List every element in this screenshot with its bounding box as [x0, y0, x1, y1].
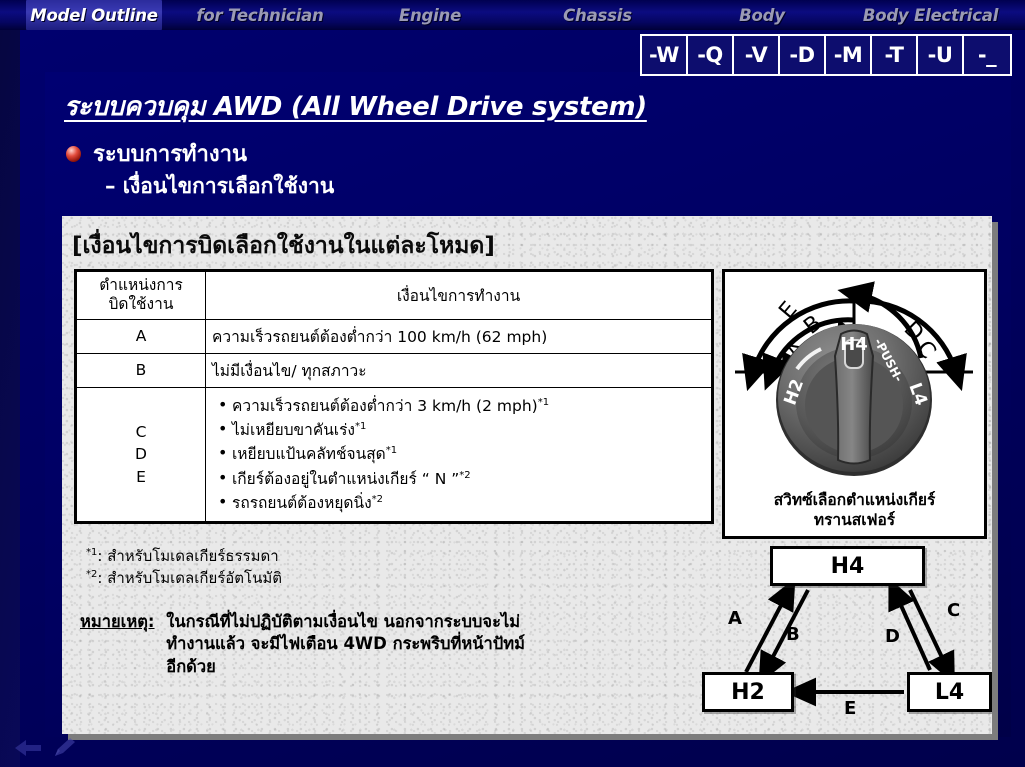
bullet-level1-label: ระบบการทำงาน [93, 136, 247, 171]
table-row-grouped: C D E ความเร็วรถยนต์ต้องต่ำกว่า 3 km/h (… [76, 387, 713, 522]
top-navigation-bar: Model Outline for Technician Engine Chas… [0, 0, 1025, 30]
footnote-mark: *1 [355, 421, 366, 432]
key-button-v[interactable]: -V [734, 36, 780, 74]
row-position-cde: C D E [76, 387, 206, 522]
row-condition-a: ความเร็วรถยนต์ต้องต่ำกว่า 100 km/h (62 m… [206, 319, 713, 353]
bullet-text: รถรถยนต์ต้องหยุดนิ่ง [232, 494, 372, 512]
footnote-mark: *1 [386, 445, 397, 456]
nav-tab-label: Body Electrical [863, 6, 998, 25]
edge-label-a: A [728, 608, 742, 629]
list-item: เกียร์ต้องอยู่ในตำแหน่งเกียร์ “ N ”*2 [216, 469, 705, 489]
dial-caption-line2: ทรานสเฟอร์ [814, 511, 895, 529]
row-position-a: A [76, 319, 206, 353]
nav-tab-label: Chassis [563, 6, 632, 25]
corner-icon-group [14, 737, 78, 759]
list-item: รถรถยนต์ต้องหยุดนิ่ง*2 [216, 493, 705, 513]
nav-tab-engine[interactable]: Engine [375, 0, 485, 30]
bullet-text: ไม่เหยียบขาคันเร่ง [232, 421, 355, 439]
row-condition-b: ไม่มีเงื่อนไข/ ทุกสภาวะ [206, 353, 713, 387]
edge-label-b: B [786, 624, 800, 645]
key-button-underscore[interactable]: -_ [964, 36, 1010, 74]
nav-tab-chassis[interactable]: Chassis [545, 0, 650, 30]
footnote-mark: *2 [459, 470, 470, 481]
key-button-w[interactable]: -W [642, 36, 688, 74]
row-condition-cde: ความเร็วรถยนต์ต้องต่ำกว่า 3 km/h (2 mph)… [206, 387, 713, 522]
footnotes-block: *1: สำหรับโมเดลเกียร์ธรรมดา *2: สำหรับโม… [86, 546, 282, 590]
note-line-1: ในกรณีที่ไม่ปฏิบัติตามเงื่อนไข นอกจากระบ… [166, 612, 520, 631]
header-position-line2: บิดใช้งาน [109, 295, 174, 313]
position-d: D [135, 445, 147, 463]
state-node-l4: L4 [907, 672, 992, 712]
table-header-row: ตำแหน่งการ บิดใช้งาน เงื่อนไขการทำงาน [76, 271, 713, 320]
conditions-table: ตำแหน่งการ บิดใช้งาน เงื่อนไขการทำงาน A … [74, 269, 714, 524]
bullet-text: ความเร็วรถยนต์ต้องต่ำกว่า 3 km/h (2 mph) [232, 397, 538, 415]
page-title: ระบบควบคุม AWD (All Wheel Drive system) [64, 86, 647, 127]
footnote-1-mark: *1 [86, 547, 97, 558]
row-position-b: B [76, 353, 206, 387]
key-button-q[interactable]: -Q [688, 36, 734, 74]
state-node-h2: H2 [702, 672, 794, 712]
nav-tab-body[interactable]: Body [722, 0, 802, 30]
transfer-switch-figure: E B A D C H4 H2 L4 -PUSH- [722, 269, 987, 539]
list-item: ไม่เหยียบขาคันเร่ง*1 [216, 420, 705, 440]
state-node-h4: H4 [770, 546, 925, 586]
sphere-bullet-icon [66, 146, 81, 162]
nav-tab-label: Body [739, 6, 785, 25]
header-position-line1: ตำแหน่งการ [99, 276, 183, 294]
bullet-text: เกียร์ต้องอยู่ในตำแหน่งเกียร์ “ N ” [232, 470, 459, 488]
footnote-2-mark: *2 [86, 569, 97, 580]
list-item: เหยียบแป้นคลัทช์จนสุด*1 [216, 444, 705, 464]
nav-tab-label: Model Outline [30, 6, 157, 25]
note-block: หมายเหตุ: ในกรณีที่ไม่ปฏิบัติตามเงื่อนไข… [80, 611, 525, 678]
nav-tab-for-technician[interactable]: for Technician [180, 0, 340, 30]
content-panel: [เงื่อนไขการบิดเลือกใช้งานในแต่ละโหมด] ต… [62, 216, 992, 734]
bullet-text: เหยียบแป้นคลัทช์จนสุด [232, 446, 386, 464]
mode-transition-diagram: H4 H2 L4 A B C D E [702, 546, 992, 721]
edge-label-d: D [885, 626, 900, 647]
position-e: E [136, 468, 146, 486]
shortcut-key-bar: -W -Q -V -D -M -T -U -_ [640, 34, 1012, 76]
key-button-u[interactable]: -U [918, 36, 964, 74]
note-body: ในกรณีที่ไม่ปฏิบัติตามเงื่อนไข นอกจากระบ… [166, 611, 525, 678]
footnote-2-text: : สำหรับโมเดลเกียร์อัตโนมัติ [97, 569, 282, 587]
edge-label-e: E [844, 698, 856, 719]
key-button-d[interactable]: -D [780, 36, 826, 74]
footnote-mark: *1 [538, 397, 549, 408]
footnote-2: *2: สำหรับโมเดลเกียร์อัตโนมัติ [86, 568, 282, 590]
nav-tab-label: for Technician [196, 6, 323, 25]
svg-text:H4: H4 [840, 334, 868, 355]
condition-bullet-list: ความเร็วรถยนต์ต้องต่ำกว่า 3 km/h (2 mph)… [212, 396, 705, 513]
dial-caption-line1: สวิทซ์เลือกตำแหน่งเกียร์ [774, 491, 936, 509]
table-header-position: ตำแหน่งการ บิดใช้งาน [76, 271, 206, 320]
panel-heading: [เงื่อนไขการบิดเลือกใช้งานในแต่ละโหมด] [72, 228, 495, 264]
slide-title-wrap: ระบบควบคุม AWD (All Wheel Drive system) [64, 86, 647, 127]
position-c: C [136, 423, 147, 441]
note-label: หมายเหตุ: [80, 612, 155, 631]
footnote-1: *1: สำหรับโมเดลเกียร์ธรรมดา [86, 546, 282, 568]
note-line-2: ทำงานแล้ว จะมีไฟเตือน 4WD กระพริบที่หน้า… [166, 634, 525, 653]
nav-tab-label: Engine [399, 6, 461, 25]
bullet-level1-row: ระบบการทำงาน [66, 136, 247, 171]
table-row: B ไม่มีเงื่อนไข/ ทุกสภาวะ [76, 353, 713, 387]
nav-tab-model-outline[interactable]: Model Outline [26, 0, 162, 30]
nav-tab-body-electrical[interactable]: Body Electrical [848, 0, 1013, 30]
bullet-level2-label: – เงื่อนไขการเลือกใช้งาน [105, 170, 334, 203]
footnote-1-text: : สำหรับโมเดลเกียร์ธรรมดา [97, 547, 278, 565]
key-button-t[interactable]: -T [872, 36, 918, 74]
back-arrow-icon[interactable] [14, 738, 42, 758]
list-item: ความเร็วรถยนต์ต้องต่ำกว่า 3 km/h (2 mph)… [216, 396, 705, 416]
footnote-mark: *2 [372, 494, 383, 505]
table-row: A ความเร็วรถยนต์ต้องต่ำกว่า 100 km/h (62… [76, 319, 713, 353]
pencil-icon[interactable] [52, 737, 78, 759]
table-header-condition: เงื่อนไขการทำงาน [206, 271, 713, 320]
slide-root: Model Outline for Technician Engine Chas… [0, 0, 1025, 767]
dial-caption: สวิทซ์เลือกตำแหน่งเกียร์ ทรานสเฟอร์ [725, 491, 984, 530]
key-button-m[interactable]: -M [826, 36, 872, 74]
edge-label-c: C [947, 600, 960, 621]
note-line-3: อีกด้วย [166, 657, 216, 676]
